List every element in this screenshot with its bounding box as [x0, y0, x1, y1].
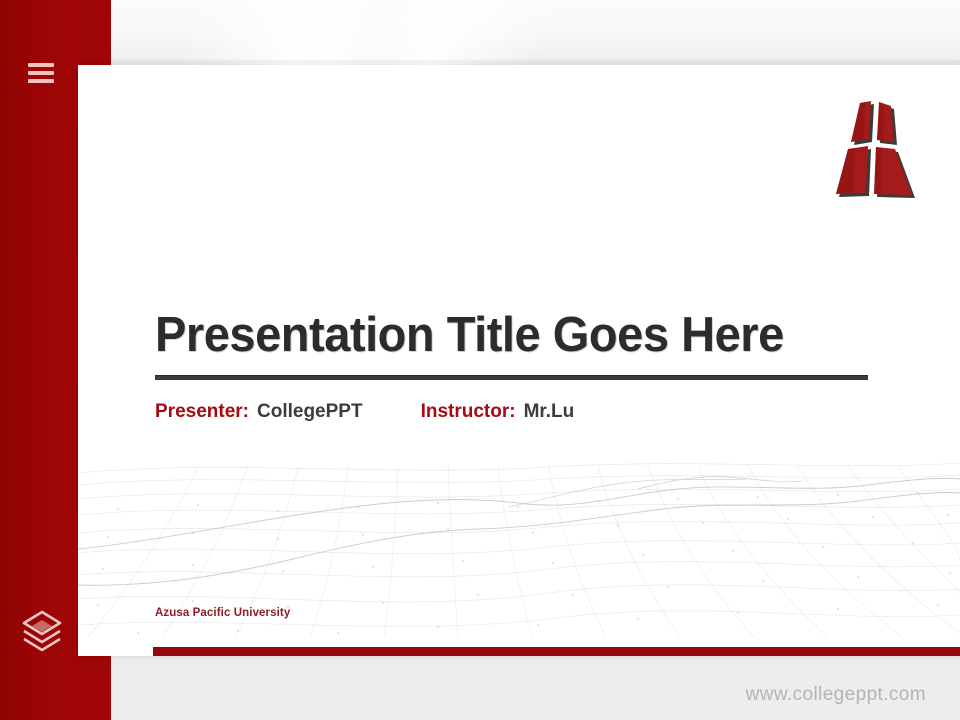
instructor-item: Instructor: Mr.Lu: [421, 401, 575, 423]
page-title: Presentation Title Goes Here: [155, 310, 865, 361]
top-decorative-band: [0, 0, 960, 66]
layers-stack-icon[interactable]: [19, 606, 65, 656]
presenter-item: Presenter: CollegePPT: [155, 401, 363, 423]
menu-bar: [28, 71, 54, 75]
slide-viewer: Presentation Title Goes Here Presenter: …: [0, 0, 960, 720]
presenter-label: Presenter:: [155, 401, 249, 423]
title-divider: [155, 375, 868, 380]
slide-canvas[interactable]: Presentation Title Goes Here Presenter: …: [78, 65, 960, 656]
menu-bar: [28, 63, 54, 67]
instructor-value: Mr.Lu: [524, 401, 575, 423]
site-watermark: www.collegeppt.com: [746, 684, 926, 706]
instructor-label: Instructor:: [421, 401, 516, 423]
hamburger-menu-icon[interactable]: [28, 61, 54, 85]
slide-bottom-bar: [153, 647, 960, 656]
presenter-meta-row: Presenter: CollegePPT Instructor: Mr.Lu: [155, 401, 895, 423]
menu-bar: [28, 79, 54, 83]
university-name: Azusa Pacific University: [155, 607, 290, 619]
presenter-value: CollegePPT: [257, 401, 363, 423]
azusa-pacific-university-a-logo: [824, 87, 924, 207]
title-block: Presentation Title Goes Here Presenter: …: [155, 310, 895, 423]
